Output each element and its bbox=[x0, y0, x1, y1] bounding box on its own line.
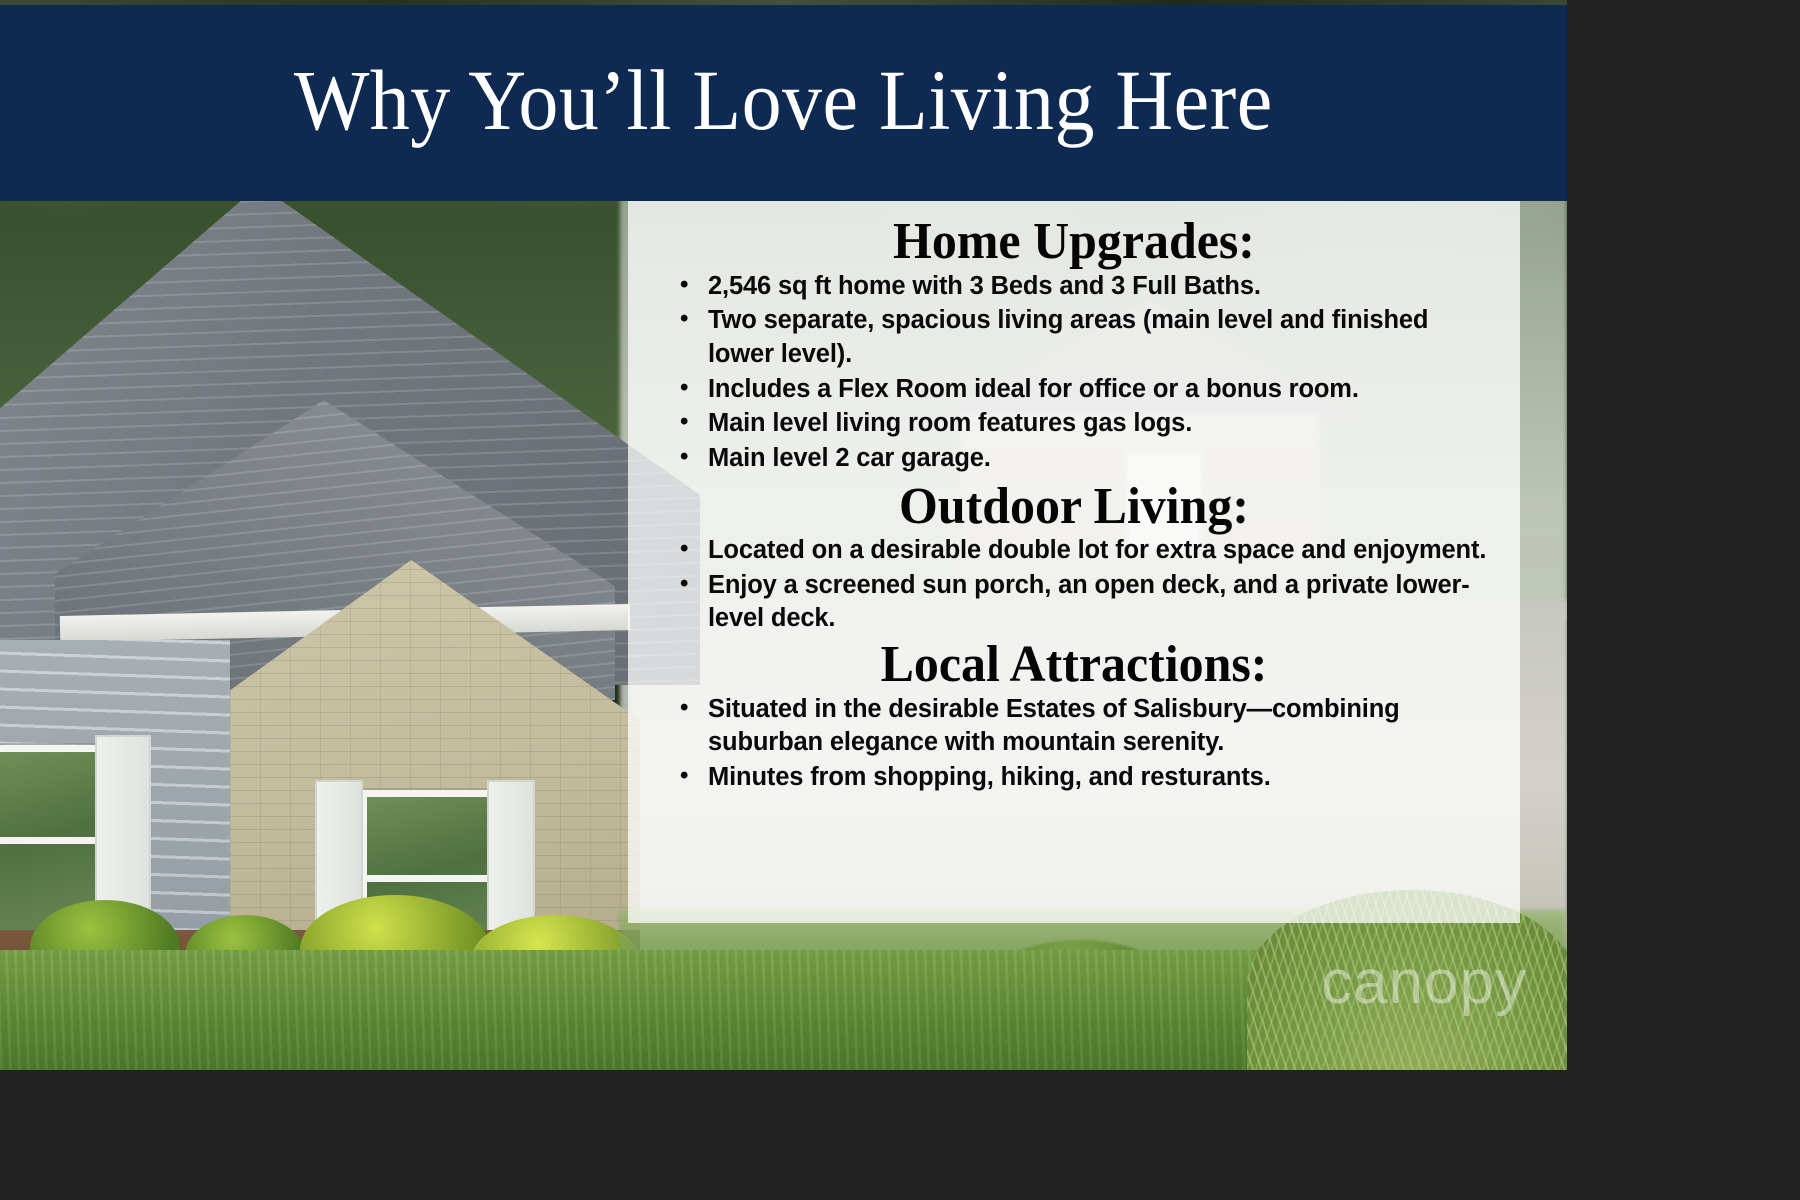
list-item: Minutes from shopping, hiking, and restu… bbox=[674, 761, 1494, 795]
section-heading-local-attractions: Local Attractions: bbox=[646, 638, 1502, 693]
section-heading-outdoor-living: Outdoor Living: bbox=[646, 480, 1502, 535]
list-item: 2,546 sq ft home with 3 Beds and 3 Full … bbox=[674, 270, 1494, 304]
bullet-list-outdoor-living: Located on a desirable double lot for ex… bbox=[628, 534, 1520, 636]
features-panel: Home Upgrades: 2,546 sq ft home with 3 B… bbox=[628, 201, 1520, 923]
list-item: Situated in the desirable Estates of Sal… bbox=[674, 693, 1494, 760]
list-item: Located on a desirable double lot for ex… bbox=[674, 534, 1494, 568]
bullet-list-home-upgrades: 2,546 sq ft home with 3 Beds and 3 Full … bbox=[628, 270, 1520, 476]
window-mullion bbox=[367, 875, 487, 882]
list-item: Main level living room features gas logs… bbox=[674, 407, 1494, 441]
list-item: Enjoy a screened sun porch, an open deck… bbox=[674, 569, 1494, 636]
page-title: Why You’ll Love Living Here bbox=[294, 57, 1273, 149]
real-estate-flyer: Why You’ll Love Living Here Home Upgrade… bbox=[0, 0, 1567, 1070]
section-heading-home-upgrades: Home Upgrades: bbox=[646, 215, 1502, 270]
title-banner: Why You’ll Love Living Here bbox=[0, 5, 1567, 201]
list-item: Two separate, spacious living areas (mai… bbox=[674, 304, 1494, 371]
bullet-list-local-attractions: Situated in the desirable Estates of Sal… bbox=[628, 693, 1520, 795]
list-item: Main level 2 car garage. bbox=[674, 442, 1494, 476]
list-item: Includes a Flex Room ideal for office or… bbox=[674, 373, 1494, 407]
